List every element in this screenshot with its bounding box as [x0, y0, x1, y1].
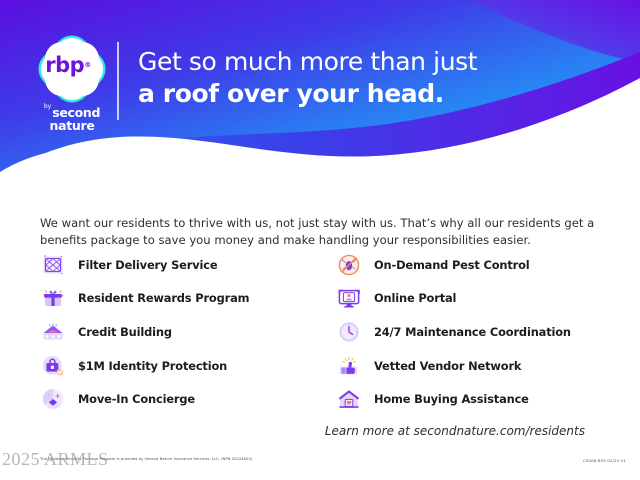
air-filter-icon [40, 252, 66, 278]
logo-trademark: ® [84, 61, 91, 69]
benefit-label: Vetted Vendor Network [374, 359, 521, 373]
credit-building-icon [40, 319, 66, 345]
logo-rbp-text: rbp® [41, 38, 95, 92]
logo-subtitle: bysecond nature [36, 104, 108, 133]
benefits-column-left: Filter Delivery Service Resident Rewards… [40, 248, 325, 416]
benefit-item-on-demand-pest-control: On-Demand Pest Control [336, 248, 621, 282]
benefit-label: Home Buying Assistance [374, 392, 529, 406]
benefits-column-right: On-Demand Pest Control Online Portal [336, 248, 621, 416]
document-code: CS008-RES 02/24 V1 [583, 458, 626, 463]
home-heart-icon [336, 386, 362, 412]
benefit-item-resident-rewards-program: Resident Rewards Program [40, 282, 325, 316]
rbp-logo: rbp® bysecond nature [36, 38, 108, 124]
logo-by-label: by [44, 104, 51, 110]
hero-divider [117, 42, 119, 120]
slide-canvas: rbp® bysecond nature Get so much more th… [0, 0, 640, 480]
logo-nature-label: nature [36, 120, 108, 133]
thumbs-up-icon [336, 353, 362, 379]
no-pest-icon [336, 252, 362, 278]
intro-paragraph: We want our residents to thrive with us,… [40, 215, 600, 249]
benefit-label: Move-In Concierge [78, 392, 195, 406]
benefit-label: Resident Rewards Program [78, 291, 249, 305]
benefit-item-home-buying-assistance: Home Buying Assistance [336, 382, 621, 416]
headline-line-2: a roof over your head. [138, 78, 608, 110]
move-in-concierge-icon [40, 386, 66, 412]
benefit-label: Online Portal [374, 291, 456, 305]
benefit-item-1m-identity-protection: $1M Identity Protection [40, 349, 325, 383]
benefit-label: Filter Delivery Service [78, 258, 217, 272]
learn-more-link[interactable]: Learn more at secondnature.com/residents [0, 424, 640, 438]
benefit-item-247-maintenance-coordination: 24/7 Maintenance Coordination [336, 315, 621, 349]
benefit-label: $1M Identity Protection [78, 359, 227, 373]
headline-line-1: Get so much more than just [138, 46, 608, 78]
benefit-item-move-in-concierge: Move-In Concierge [40, 382, 325, 416]
monitor-portal-icon [336, 285, 362, 311]
logo-rbp-label: rbp [45, 53, 84, 77]
benefit-item-online-portal: Online Portal [336, 282, 621, 316]
benefit-item-vetted-vendor-network: Vetted Vendor Network [336, 349, 621, 383]
benefit-label: Credit Building [78, 325, 172, 339]
benefit-label: On-Demand Pest Control [374, 258, 530, 272]
benefit-item-credit-building: Credit Building [40, 315, 325, 349]
clock-icon [336, 319, 362, 345]
benefit-item-filter-delivery-service: Filter Delivery Service [40, 248, 325, 282]
identity-briefcase-icon [40, 353, 66, 379]
gift-box-icon [40, 285, 66, 311]
armls-watermark: 2025 ARMLS [2, 449, 109, 470]
rbp-logo-mark: rbp® [41, 38, 103, 100]
hero-headline: Get so much more than just a roof over y… [138, 46, 608, 109]
benefit-label: 24/7 Maintenance Coordination [374, 325, 571, 339]
hero-banner: rbp® bysecond nature Get so much more th… [0, 0, 640, 178]
